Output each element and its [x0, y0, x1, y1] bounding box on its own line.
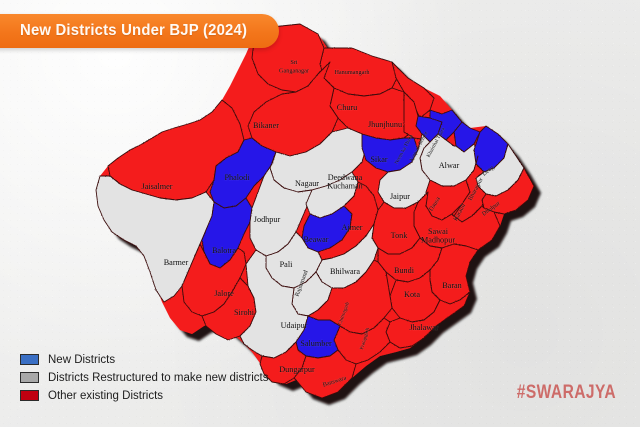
- district-label-jalore: Jalore: [214, 289, 234, 298]
- legend-label-new: New Districts: [48, 354, 115, 366]
- district-label-dungarpur: Dungarpur: [279, 365, 315, 374]
- district-label-jhunjhunu: Jhunjhunu: [368, 120, 402, 129]
- district-label-kota: Kota: [404, 290, 420, 299]
- legend-label-restructured: Districts Restructured to make new distr…: [48, 372, 268, 384]
- district-label-balotra: Balotra: [212, 246, 236, 255]
- title-banner: New Districts Under BJP (2024): [0, 14, 279, 48]
- district-label-pali: Pali: [280, 260, 293, 269]
- district-label-hanumangarh: Hanumangarh: [334, 69, 370, 76]
- district-label-sikar: Sikar: [370, 155, 388, 164]
- legend-swatch-restructured: [20, 372, 39, 383]
- district-label-jodhpur: Jodhpur: [254, 215, 281, 224]
- district-label-bundi: Bundi: [394, 266, 415, 275]
- district-label-deedwana-kuchaman: DeedwanaKuchaman: [327, 173, 362, 190]
- district-label-udaipur: Udaipur: [281, 321, 308, 330]
- district-label-nagaur: Nagaur: [295, 179, 319, 188]
- district-label-baran: Baran: [442, 281, 462, 290]
- district-label-bikaner: Bikaner: [253, 121, 279, 130]
- district-label-bhilwara: Bhilwara: [330, 267, 360, 276]
- district-label-jhalawar: Jhalawar: [409, 323, 438, 332]
- district-label-jaipur: Jaipur: [390, 192, 410, 201]
- legend-label-existing: Other existing Districts: [48, 390, 163, 402]
- district-label-sirohi: Sirohi: [234, 308, 255, 317]
- legend-swatch-new: [20, 354, 39, 365]
- legend-item-existing: Other existing Districts: [20, 388, 268, 403]
- district-label-barmer: Barmer: [164, 258, 189, 267]
- district-label-alwar: Alwar: [439, 161, 460, 170]
- legend-item-restructured: Districts Restructured to make new distr…: [20, 370, 268, 385]
- map-legend: New Districts Districts Restructured to …: [20, 352, 268, 406]
- legend-swatch-existing: [20, 390, 39, 401]
- district-tonk: [372, 202, 420, 254]
- swarajya-watermark: #SWARAJYA: [517, 382, 616, 404]
- district-label-beawar: Beawar: [303, 235, 328, 244]
- legend-item-new-districts: New Districts: [20, 352, 268, 367]
- district-label-ajmer: Ajmer: [342, 223, 363, 232]
- district-label-phalodi: Phalodi: [224, 173, 250, 182]
- page-title: New Districts Under BJP (2024): [20, 22, 247, 40]
- district-label-salumber: Salumber: [300, 339, 332, 348]
- district-label-churu: Churu: [337, 103, 357, 112]
- district-label-jaisalmer: Jaisalmer: [142, 182, 173, 191]
- district-label-tonk: Tonk: [391, 231, 409, 240]
